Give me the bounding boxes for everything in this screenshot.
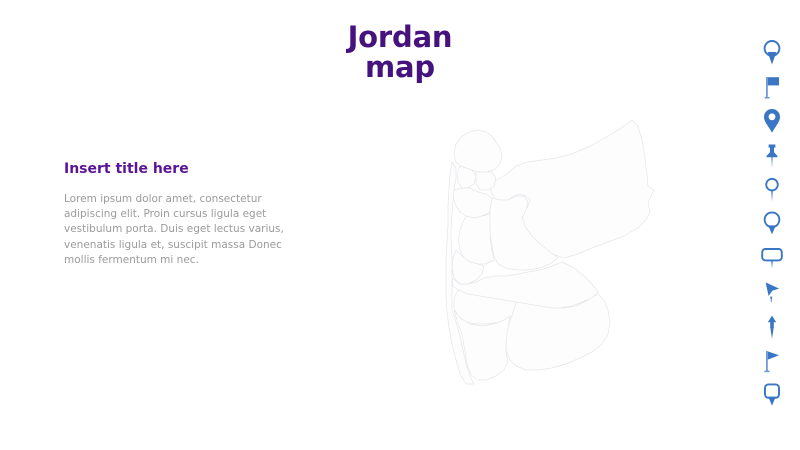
jordan-map [432, 78, 682, 390]
page-title: Jordan map [0, 22, 800, 82]
map-pin-filled-icon[interactable] [757, 108, 787, 134]
map-pin-outline-icon[interactable] [757, 40, 787, 66]
map-region-balqa [453, 188, 494, 218]
needle-pin-icon[interactable] [757, 314, 787, 340]
circle-stem-pin-icon[interactable] [757, 177, 787, 203]
teardrop-pin-icon[interactable] [757, 211, 787, 237]
text-block-body: Lorem ipsum dolor amet, consectetur adip… [64, 192, 304, 268]
text-block: Insert title here Lorem ipsum dolor amet… [64, 160, 304, 268]
pennant-flag-icon[interactable] [757, 348, 787, 374]
rounded-square-pin-icon[interactable] [757, 382, 787, 408]
text-block-heading: Insert title here [64, 160, 304, 178]
pushpin-icon[interactable] [757, 143, 787, 169]
flag-icon[interactable] [757, 74, 787, 100]
map-region-amman [458, 214, 494, 264]
cursor-arrow-icon[interactable] [757, 279, 787, 305]
map-regions [446, 120, 654, 384]
map-region-irbid [454, 130, 502, 172]
label-callout-icon[interactable] [757, 245, 787, 271]
slide-canvas: Jordan map Insert title here Lorem ipsum… [0, 0, 800, 450]
marker-icon-rail [752, 40, 792, 408]
